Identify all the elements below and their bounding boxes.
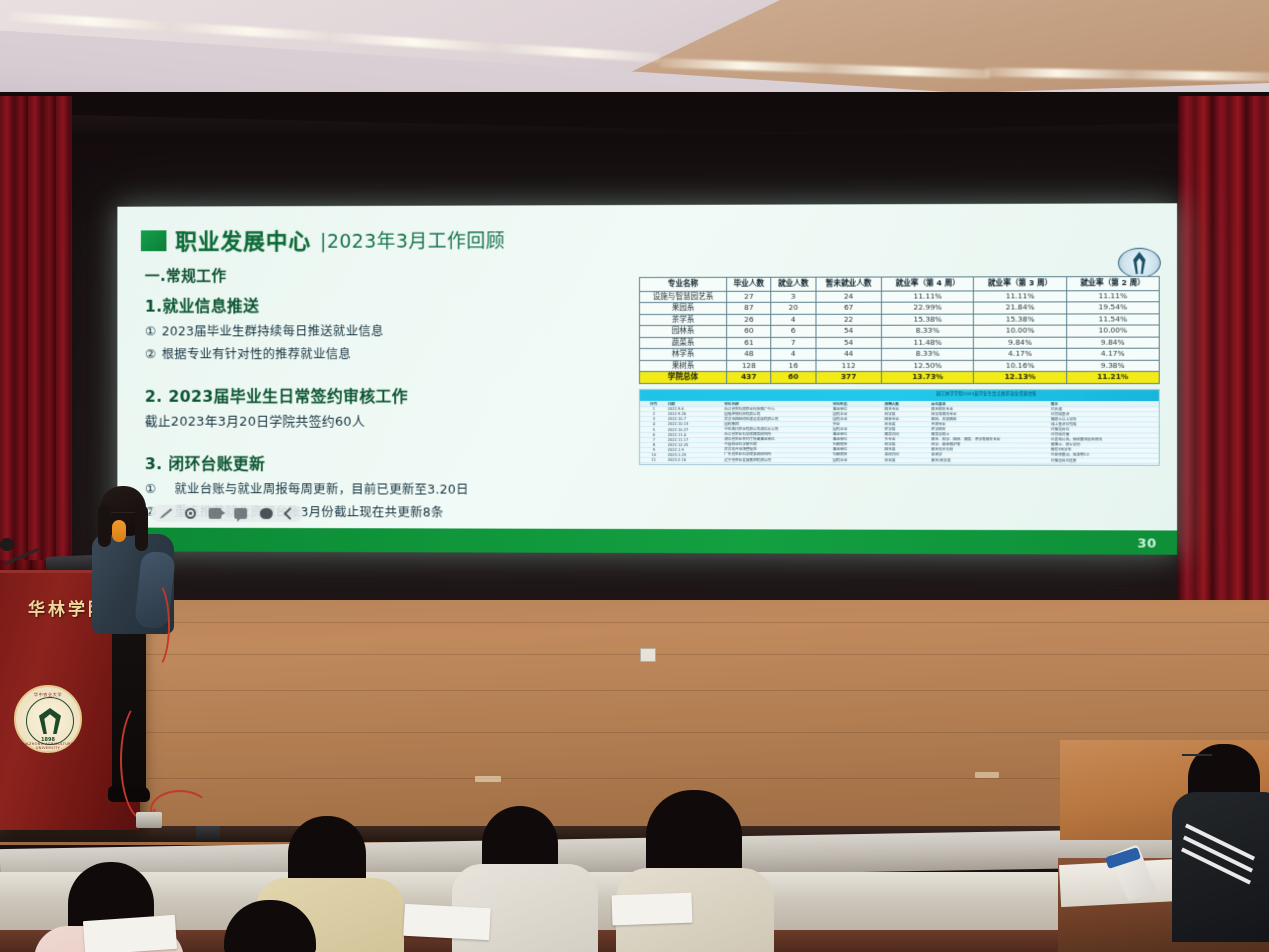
ledger-cell-no: 2 bbox=[640, 412, 666, 416]
table-row: 果园系87206722.99%21.84%19.54% bbox=[640, 302, 1160, 314]
lecture-hall-photo: 职业发展中心 |2023年3月工作回顾 一.常规工作 1.就业信息推送 ① 20… bbox=[0, 0, 1269, 952]
col-header-unemployed: 暂未就业人数 bbox=[816, 277, 882, 291]
table-cell-w2: 9.38% bbox=[1066, 360, 1159, 372]
video-icon[interactable] bbox=[209, 508, 222, 519]
floor-tape-marker bbox=[975, 772, 999, 778]
more-icon[interactable] bbox=[260, 508, 273, 519]
table-cell-w3: 4.17% bbox=[974, 348, 1067, 360]
laser-pointer-icon[interactable] bbox=[185, 508, 196, 519]
ledger-col-header: 日期 bbox=[666, 402, 723, 407]
ledger-cell-req: 园艺/林学类 bbox=[929, 458, 1049, 463]
bullet-text: 就业台账与就业周报每周更新，目前已更新至3.20日 bbox=[175, 481, 469, 497]
ledger-title: 园艺林学学院2023届毕业生重点推荐就业资源台账 bbox=[936, 391, 1036, 397]
table-row: 设施与智慧园艺系2732411.11%11.11%11.11% bbox=[640, 290, 1160, 302]
ledger-cell-date: 2022.10.7 bbox=[666, 417, 723, 421]
ledger-title-band: 园艺林学学院2023届毕业生重点推荐就业资源台账 bbox=[640, 390, 1159, 401]
total-cell-w2: 11.21% bbox=[1066, 371, 1159, 383]
speaker-hair-side bbox=[135, 505, 148, 551]
table-cell-unemployed: 24 bbox=[816, 291, 882, 303]
ledger-cell-no: 5 bbox=[640, 428, 666, 432]
table-cell-employed: 16 bbox=[771, 360, 815, 372]
floor-tape-marker bbox=[475, 776, 501, 782]
speaker-glasses bbox=[111, 512, 136, 518]
table-cell-w4: 8.33% bbox=[882, 348, 974, 360]
table-cell-unemployed: 44 bbox=[816, 348, 882, 360]
table-cell-name: 园林系 bbox=[640, 325, 727, 337]
table-cell-unemployed: 112 bbox=[816, 360, 882, 372]
table-cell-name: 设施与智慧园艺系 bbox=[640, 291, 727, 303]
ledger-cell-no: 1 bbox=[640, 407, 666, 411]
col-header-rate-w4: 就业率（第 4 周） bbox=[882, 277, 974, 291]
table-cell-w2: 11.54% bbox=[1066, 313, 1159, 325]
table-row: 林学系484448.33%4.17%4.17% bbox=[640, 348, 1160, 360]
power-cable bbox=[140, 580, 170, 670]
section-sub-2: 2. 2023届毕业生日常签约审核工作 bbox=[145, 383, 620, 407]
col-header-employed: 就业人数 bbox=[771, 277, 815, 291]
table-total-row: 学院总体4376037713.73%12.13%11.21% bbox=[640, 371, 1160, 383]
section-sub-1: 1.就业信息推送 bbox=[145, 292, 620, 317]
ledger-cell-no: 4 bbox=[640, 422, 666, 426]
bullet-item: ② 根据专业有针对性的推荐就业信息 bbox=[145, 343, 620, 362]
section-sub-3: 3. 闭环台账更新 bbox=[145, 450, 620, 475]
slide-left-column: 一.常规工作 1.就业信息推送 ① 2023届毕业生群持续每日推送就业信息 ② … bbox=[145, 261, 620, 521]
table-cell-employed: 7 bbox=[771, 337, 815, 349]
ledger-cell-date: 2022.11.4 bbox=[666, 433, 723, 437]
title-accent-bar bbox=[141, 230, 167, 251]
table-cell-w3: 10.00% bbox=[974, 325, 1067, 337]
table-cell-w2: 19.54% bbox=[1066, 302, 1159, 314]
bullet-marker: ① bbox=[145, 324, 158, 339]
table-cell-name: 果树系 bbox=[640, 360, 727, 372]
col-header-rate-w3: 就业率（第 3 周） bbox=[974, 277, 1067, 291]
slide-page-number: 30 bbox=[1137, 536, 1156, 551]
slide-footer-bar: 30 bbox=[117, 528, 1177, 555]
ledger-cell-date: 2022.9.6 bbox=[666, 407, 723, 411]
section-line-2: 截止2023年3月20日学院共签约60人 bbox=[145, 411, 620, 430]
seal-glyph-icon bbox=[39, 708, 61, 734]
table-cell-name: 茶学系 bbox=[640, 314, 727, 326]
total-cell-name: 学院总体 bbox=[640, 371, 727, 383]
employment-stats-table: 专业名称 毕业人数 就业人数 暂未就业人数 就业率（第 4 周） 就业率（第 3… bbox=[639, 276, 1160, 384]
ledger-cell-date: 2022.12.20 bbox=[666, 443, 723, 447]
notes-icon[interactable] bbox=[234, 508, 247, 519]
ledger-cell-date: 2022.10.27 bbox=[666, 428, 723, 432]
ledger-row: 112023.2.16辽宁省农业发展集团有限公司国有企业综合类园艺/林学类已推送… bbox=[640, 458, 1159, 464]
table-cell-w3: 10.16% bbox=[974, 360, 1067, 372]
table-cell-grads: 128 bbox=[727, 360, 771, 372]
ledger-cell-unit: 辽宁省农业发展集团有限公司 bbox=[722, 458, 830, 463]
table-cell-name: 果园系 bbox=[640, 302, 727, 314]
wall-outlet bbox=[640, 648, 656, 662]
ledger-cell-no: 11 bbox=[640, 458, 666, 462]
ledger-cell-no: 9 bbox=[640, 448, 666, 452]
bullet-text: 2023届毕业生群持续每日推送就业信息 bbox=[162, 323, 384, 338]
ledger-cell-date: 2023.1.20 bbox=[666, 453, 723, 457]
table-cell-name: 林学系 bbox=[640, 348, 727, 360]
table-row: 蔬菜系6175411.48%9.84%9.84% bbox=[640, 337, 1160, 349]
ledger-cell-no: 8 bbox=[640, 443, 666, 447]
table-cell-w2: 11.11% bbox=[1066, 290, 1159, 302]
table-cell-grads: 26 bbox=[727, 314, 771, 326]
table-row: 茶学系2642215.38%15.38%11.54% bbox=[640, 313, 1160, 325]
table-cell-w3: 9.84% bbox=[974, 337, 1067, 349]
table-cell-grads: 48 bbox=[727, 348, 771, 360]
bullet-marker: ① bbox=[145, 481, 171, 496]
back-arrow-icon[interactable] bbox=[284, 507, 297, 520]
bullet-text: 根据专业有针对性的推荐就业信息 bbox=[162, 346, 351, 361]
stage-curtain-right bbox=[1178, 96, 1269, 656]
table-cell-w2: 4.17% bbox=[1066, 348, 1159, 360]
table-cell-employed: 4 bbox=[771, 348, 815, 360]
notebook bbox=[83, 915, 177, 952]
table-cell-w4: 12.50% bbox=[882, 360, 974, 372]
table-cell-unemployed: 67 bbox=[816, 302, 882, 314]
total-cell-grads: 437 bbox=[727, 371, 771, 383]
table-row: 果树系1281611212.50%10.16%9.38% bbox=[640, 360, 1160, 372]
table-cell-employed: 20 bbox=[771, 302, 815, 314]
table-cell-w2: 10.00% bbox=[1066, 325, 1159, 337]
floor-junction-box bbox=[196, 826, 220, 840]
table-cell-unemployed: 22 bbox=[816, 314, 882, 326]
ledger-cell-no: 10 bbox=[640, 453, 666, 457]
ledger-cell-no: 3 bbox=[640, 417, 666, 421]
presenter-toolbar[interactable] bbox=[151, 505, 304, 522]
ledger-cell-date: 2022.10.13 bbox=[666, 422, 723, 426]
col-header-grads: 毕业人数 bbox=[727, 277, 771, 291]
table-header-row: 专业名称 毕业人数 就业人数 暂未就业人数 就业率（第 4 周） 就业率（第 3… bbox=[640, 277, 1160, 291]
microphone-head bbox=[0, 538, 14, 551]
resource-ledger-screenshot: 园艺林学学院2023届毕业生重点推荐就业资源台账 序号日期单位名称单位性质招聘人… bbox=[639, 389, 1160, 466]
university-seal: 华中农业大学 1898 HUAZHONG AGRICULTURAL UNIVER… bbox=[14, 685, 82, 753]
university-emblem-icon bbox=[1118, 248, 1161, 278]
notebook bbox=[403, 904, 491, 940]
table-cell-grads: 61 bbox=[727, 337, 771, 349]
slide-title-sub: |2023年3月工作回顾 bbox=[320, 226, 505, 253]
total-cell-employed: 60 bbox=[771, 371, 815, 383]
ledger-cell-no: 7 bbox=[640, 438, 666, 442]
projection-screen: 职业发展中心 |2023年3月工作回顾 一.常规工作 1.就业信息推送 ① 20… bbox=[117, 203, 1177, 554]
table-cell-employed: 3 bbox=[771, 291, 815, 303]
table-cell-unemployed: 54 bbox=[816, 325, 882, 337]
table-cell-w2: 9.84% bbox=[1066, 337, 1159, 349]
floor-power-adapter bbox=[136, 812, 162, 828]
table-cell-grads: 27 bbox=[727, 291, 771, 303]
handheld-microphone bbox=[112, 520, 126, 542]
table-cell-w3: 15.38% bbox=[974, 313, 1067, 325]
total-cell-w3: 12.13% bbox=[974, 371, 1067, 383]
table-cell-w4: 11.11% bbox=[882, 290, 974, 302]
ledger-cell-count: 综合类 bbox=[883, 458, 930, 463]
col-header-major: 专业名称 bbox=[640, 277, 727, 291]
table-cell-w4: 22.99% bbox=[882, 302, 974, 314]
table-cell-w3: 11.11% bbox=[974, 290, 1067, 302]
table-cell-w4: 15.38% bbox=[882, 314, 974, 326]
slide-title-main: 职业发展中心 bbox=[175, 224, 311, 256]
table-cell-name: 蔬菜系 bbox=[640, 337, 727, 349]
table-cell-employed: 6 bbox=[771, 325, 815, 337]
ledger-cell-date: 2022.9.26 bbox=[666, 412, 723, 416]
ledger-cell-date: 2023.2.16 bbox=[666, 458, 723, 462]
table-cell-w4: 11.48% bbox=[882, 337, 974, 349]
total-cell-w4: 13.73% bbox=[882, 371, 974, 383]
table-cell-employed: 4 bbox=[771, 314, 815, 326]
seal-bottom-text: HUAZHONG AGRICULTURAL UNIVERSITY bbox=[16, 742, 80, 750]
ledger-cell-date: 2022.1.9 bbox=[666, 448, 723, 452]
slide-title-row: 职业发展中心 |2023年3月工作回顾 bbox=[141, 221, 1163, 256]
table-cell-grads: 60 bbox=[727, 325, 771, 337]
section-heading-1: 一.常规工作 bbox=[145, 264, 620, 286]
ledger-rows: 序号日期单位名称单位性质招聘人数岗位要求备注12022.9.6浙江省农科院农业科… bbox=[640, 401, 1159, 464]
table-cell-unemployed: 54 bbox=[816, 337, 882, 349]
total-cell-unemployed: 377 bbox=[816, 371, 882, 383]
col-header-rate-w2: 就业率（第 2 周） bbox=[1066, 277, 1159, 291]
bullet-item: ① 就业台账与就业周报每周更新，目前已更新至3.20日 bbox=[145, 478, 620, 498]
table-cell-w4: 8.33% bbox=[882, 325, 974, 337]
speaker-hair-side bbox=[98, 505, 111, 547]
bullet-marker: ② bbox=[145, 346, 158, 361]
ledger-cell-type: 国有企业 bbox=[831, 458, 883, 463]
table-cell-w3: 21.84% bbox=[974, 302, 1067, 314]
ledger-cell-note: 已推送岗位信息 bbox=[1049, 458, 1159, 463]
ledger-col-header: 序号 bbox=[640, 402, 666, 407]
table-row: 园林系606548.33%10.00%10.00% bbox=[640, 325, 1160, 337]
ledger-cell-no: 6 bbox=[640, 433, 666, 437]
ledger-cell-date: 2022.11.17 bbox=[666, 438, 723, 442]
table-cell-grads: 87 bbox=[727, 302, 771, 314]
notebook bbox=[612, 893, 693, 926]
bullet-item: ① 2023届毕业生群持续每日推送就业信息 bbox=[145, 320, 620, 339]
slide-content: 职业发展中心 |2023年3月工作回顾 一.常规工作 1.就业信息推送 ① 20… bbox=[117, 203, 1177, 554]
pen-icon[interactable] bbox=[160, 508, 173, 519]
